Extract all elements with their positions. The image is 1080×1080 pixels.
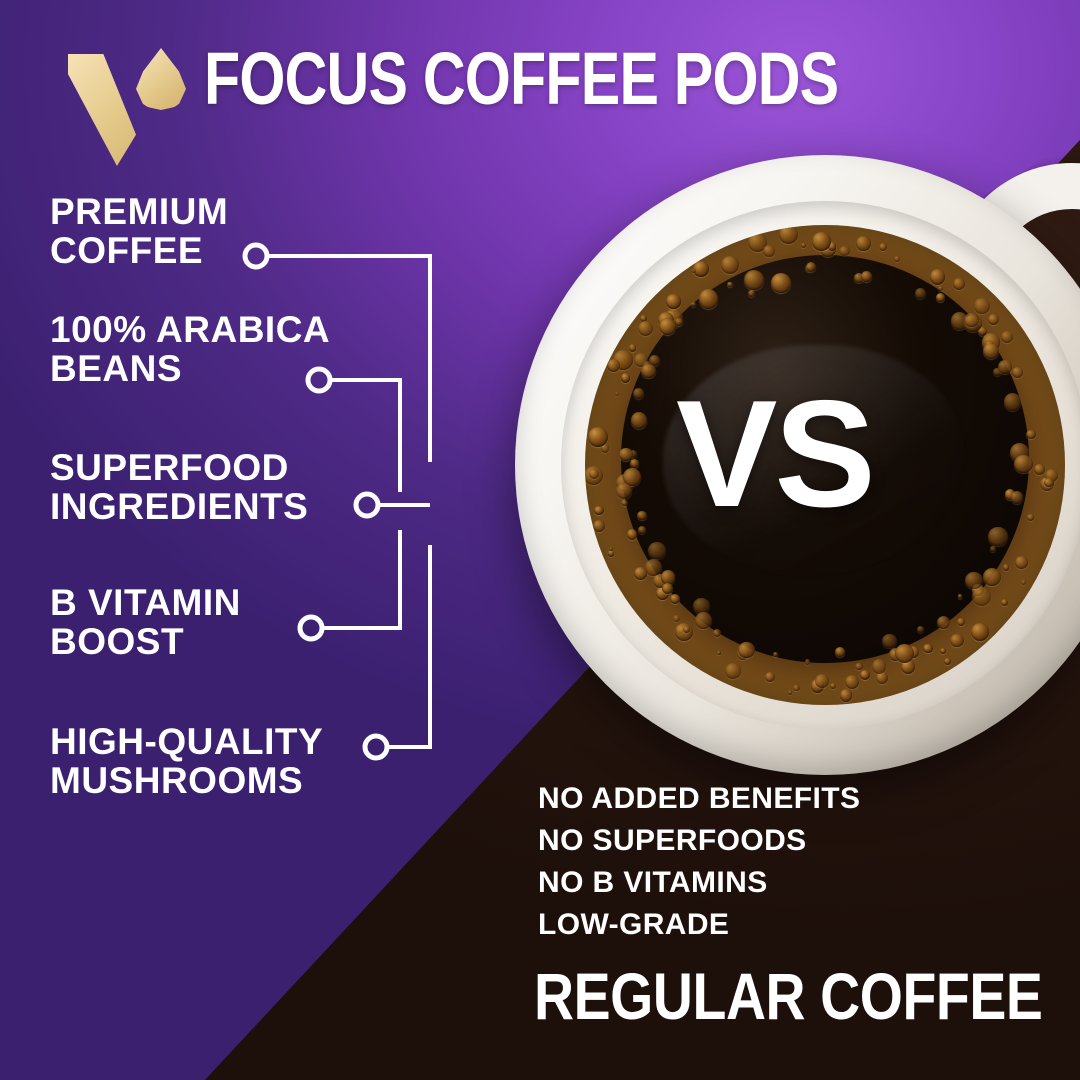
feature-label-b-vitamin-boost: B VITAMIN BOOST bbox=[50, 583, 241, 661]
con-item: NO B VITAMINS bbox=[538, 868, 860, 898]
feature-label-premium-coffee: PREMIUM COFFEE bbox=[50, 192, 228, 270]
con-item: LOW-GRADE bbox=[538, 910, 860, 940]
feature-label-superfood-ingredients: SUPERFOOD INGREDIENTS bbox=[50, 448, 308, 526]
cons-list: NO ADDED BENEFITS NO SUPERFOODS NO B VIT… bbox=[538, 784, 860, 940]
feature-label-mushrooms: HIGH-QUALITY MUSHROOMS bbox=[50, 722, 323, 800]
feature-label-arabica-beans: 100% ARABICA BEANS bbox=[50, 310, 330, 388]
connector-dot-mushrooms bbox=[365, 736, 387, 758]
connector-dot-superfood bbox=[356, 494, 378, 516]
connector-path-mushrooms bbox=[387, 545, 430, 747]
con-item: NO SUPERFOODS bbox=[538, 826, 860, 856]
connector-path-arabica bbox=[330, 380, 400, 492]
connector-path-bvitamin bbox=[322, 530, 400, 628]
connector-dot-bvitamin bbox=[300, 617, 322, 639]
vs-label: VS bbox=[676, 378, 873, 530]
con-item: NO ADDED BENEFITS bbox=[538, 784, 860, 814]
regular-coffee-title: REGULAR COFFEE bbox=[534, 963, 1042, 1029]
connector-dot-premium bbox=[245, 245, 267, 267]
infographic-canvas: FOCUS COFFEE PODS bbox=[0, 0, 1080, 1080]
